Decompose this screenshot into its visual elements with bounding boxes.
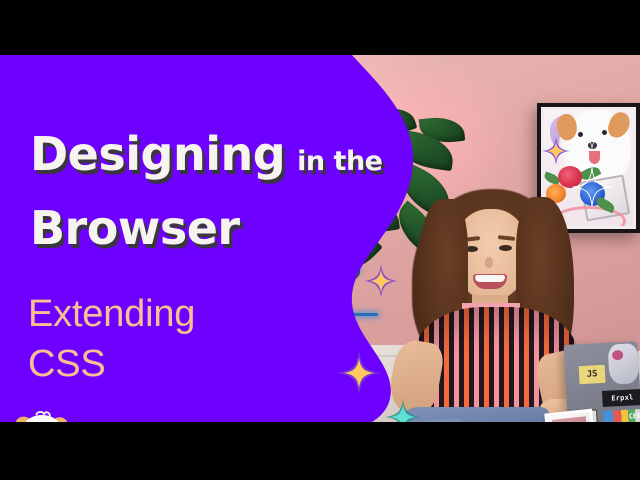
video-frame: JS Erpxl x x CEN xyxy=(0,0,640,480)
js-sticker: JS xyxy=(579,365,606,384)
nose xyxy=(485,257,493,268)
sparkle-white-large xyxy=(572,167,612,207)
sparkle-teal xyxy=(385,399,421,422)
dog-mascot-logo xyxy=(6,411,78,422)
letterbox-top xyxy=(0,0,640,55)
purple-title-panel xyxy=(0,55,470,422)
sparkle-gold-art xyxy=(542,137,570,165)
dog-sticker xyxy=(608,343,640,385)
teeth xyxy=(475,275,505,282)
eye-right xyxy=(499,245,512,251)
dog-logo-group xyxy=(15,412,68,422)
letterbox-bottom xyxy=(0,422,640,480)
video-content-area[interactable]: JS Erpxl x x CEN xyxy=(0,55,640,422)
artwork-dog-tongue xyxy=(589,151,600,164)
smiling-mouth xyxy=(473,274,507,289)
sparkle-gold-upper xyxy=(364,264,398,298)
sparkle-white-small xyxy=(582,129,602,149)
rainbow-sticker: CEN xyxy=(603,409,640,422)
artwork-dog-eye-right xyxy=(602,130,607,135)
sparkle-gold-lower xyxy=(337,351,381,395)
dark-text-sticker: Erpxl xyxy=(602,389,640,407)
